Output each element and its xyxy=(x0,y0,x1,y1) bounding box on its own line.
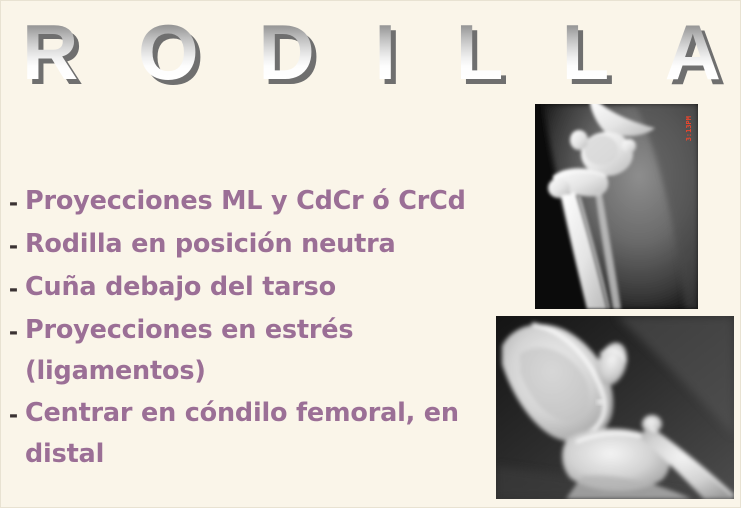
list-item-label: Rodilla en posición neutra xyxy=(25,224,479,265)
bullet-dash-icon: - xyxy=(9,393,25,435)
xray-timestamp-label: 3:13PM xyxy=(685,116,694,141)
knee-lateral-radiograph: 3:13PM xyxy=(535,104,698,309)
list-item: - Proyecciones ML y CdCr ó CrCd xyxy=(9,181,479,223)
bullet-dash-icon: - xyxy=(9,267,25,309)
bullet-dash-icon: - xyxy=(9,224,25,266)
page-title: R O D I L L A R O D I L L A xyxy=(1,7,741,102)
knee-lateral-xray-graphic xyxy=(535,104,698,309)
bullet-dash-icon: - xyxy=(9,181,25,223)
knee-condyle-radiograph xyxy=(496,316,734,499)
bullet-list: - Proyecciones ML y CdCr ó CrCd - Rodill… xyxy=(9,181,479,476)
list-item: - Rodilla en posición neutra xyxy=(9,224,479,266)
list-item: - Centrar en cóndilo femoral, en distal xyxy=(9,393,479,475)
list-item-label: Cuña debajo del tarso xyxy=(25,267,479,308)
knee-condyle-xray-graphic xyxy=(496,316,734,499)
slide-rodilla: R O D I L L A R O D I L L A - Proyeccion… xyxy=(0,0,741,508)
page-title-main: R O D I L L A xyxy=(1,7,741,97)
bullet-dash-icon: - xyxy=(9,310,25,352)
list-item-label: Centrar en cóndilo femoral, en distal xyxy=(25,393,479,475)
list-item-label: Proyecciones en estrés (ligamentos) xyxy=(25,310,479,392)
list-item: - Proyecciones en estrés (ligamentos) xyxy=(9,310,479,392)
list-item-label: Proyecciones ML y CdCr ó CrCd xyxy=(25,181,479,222)
list-item: - Cuña debajo del tarso xyxy=(9,267,479,309)
page-title-text: R O D I L L A xyxy=(3,7,740,97)
